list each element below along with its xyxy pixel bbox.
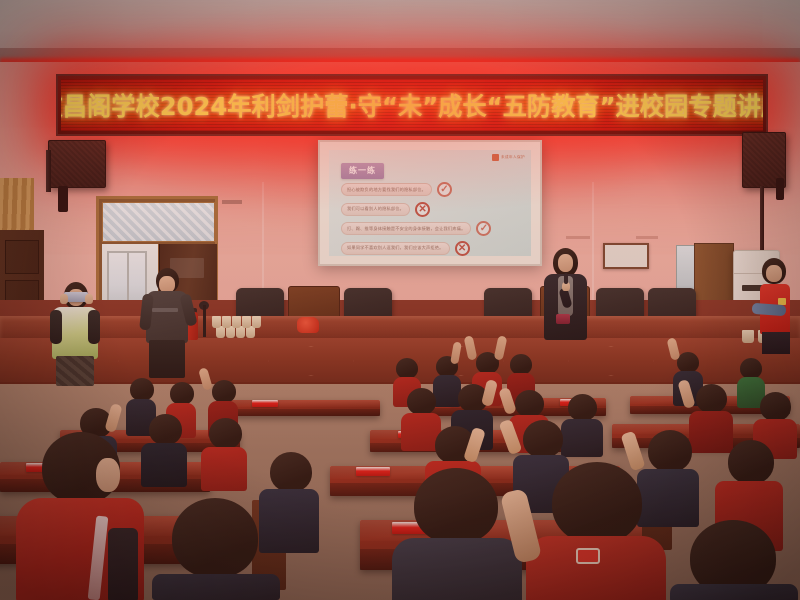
student-hair bbox=[172, 498, 258, 578]
cross-icon: ✕ bbox=[415, 202, 430, 217]
speaker-pole-left bbox=[46, 150, 51, 192]
student-top bbox=[670, 584, 798, 600]
student-hair bbox=[414, 468, 498, 544]
student bbox=[200, 418, 248, 490]
staff-trousers bbox=[149, 340, 185, 378]
stage-table-top bbox=[0, 316, 800, 340]
speaker-pole-right bbox=[760, 186, 764, 256]
check-icon: ✓ bbox=[437, 182, 452, 197]
slide-statement-text: 如果同学不喜欢别人逗我们，我们应该大声拒绝。 bbox=[341, 242, 450, 255]
jacket-sleeve bbox=[108, 528, 138, 600]
led-banner-screen: 文昌阁学校2024年利剑护蕾·守“未”成长“五防教育”进校园专题讲座 bbox=[61, 79, 763, 131]
volunteer-trousers bbox=[762, 332, 790, 354]
adult-arm-left bbox=[50, 310, 62, 344]
ceiling bbox=[0, 0, 800, 50]
paper-cup bbox=[252, 316, 261, 328]
check-icon: ✓ bbox=[476, 221, 491, 236]
student-foreground bbox=[384, 468, 526, 600]
adult-skirt bbox=[56, 356, 94, 386]
lecture-hall-photo: 文昌阁学校2024年利剑护蕾·守“未”成长“五防教育”进校园专题讲座 未成年人保… bbox=[0, 0, 800, 600]
student-foreground bbox=[150, 498, 282, 600]
slide-logo-text: 未成年人保护 bbox=[501, 155, 525, 160]
uniform-logo bbox=[576, 548, 600, 564]
adult-filming bbox=[46, 282, 104, 388]
volunteer bbox=[752, 258, 798, 354]
student-foreground bbox=[666, 520, 800, 600]
handheld-microphone bbox=[564, 273, 568, 284]
slide-title: 练一练 bbox=[341, 163, 384, 179]
adult-arm-right bbox=[88, 310, 100, 344]
student-red-top bbox=[526, 536, 666, 600]
adult-staff bbox=[138, 268, 194, 378]
slide-logo-mark bbox=[492, 154, 499, 161]
wall-speaker-left bbox=[48, 140, 106, 188]
presenter bbox=[534, 248, 596, 340]
red-bag bbox=[297, 317, 319, 333]
presenter-badge bbox=[556, 314, 570, 324]
volunteer-face bbox=[766, 265, 782, 282]
slide-row: 我们可以看别人的隐私部位。 ✕ bbox=[341, 202, 523, 217]
cross-icon: ✕ bbox=[455, 241, 470, 256]
slide-statement-list: 担心被欺负的地方要找我们的隐私部位。 ✓ 我们可以看别人的隐私部位。 ✕ 打、踢… bbox=[341, 182, 523, 256]
student-top bbox=[392, 538, 522, 600]
led-banner-text: 文昌阁学校2024年利剑护蕾·守“未”成长“五防教育”进校园专题讲座 bbox=[61, 87, 763, 123]
student-foreground bbox=[520, 462, 670, 600]
presenter-face bbox=[558, 254, 573, 272]
transom-window bbox=[102, 202, 215, 242]
slide-statement-text: 打、踢、推等身体接触是不安全的身体接触，会让我们疼痛。 bbox=[341, 222, 471, 235]
student-top bbox=[152, 574, 280, 600]
adult-hand-left bbox=[60, 294, 68, 304]
desk-nametag bbox=[252, 400, 278, 407]
projection-screen: 未成年人保护 练一练 担心被欺负的地方要找我们的隐私部位。 ✓ 我们可以看别人的… bbox=[318, 140, 542, 266]
speaker-bracket-left bbox=[58, 186, 68, 212]
slide-row: 打、踢、推等身体接触是不安全的身体接触，会让我们疼痛。 ✓ bbox=[341, 221, 523, 236]
tshirt-print bbox=[152, 308, 178, 312]
paper-cup bbox=[242, 316, 251, 328]
microphone-stand bbox=[203, 305, 206, 337]
projection-slide: 未成年人保护 练一练 担心被欺负的地方要找我们的隐私部位。 ✓ 我们可以看别人的… bbox=[329, 150, 531, 256]
paper-cup bbox=[212, 316, 221, 328]
student-foreground bbox=[16, 432, 146, 600]
volunteer-arm bbox=[752, 303, 787, 316]
student bbox=[140, 414, 188, 486]
slide-row: 如果同学不喜欢别人逗我们，我们应该大声拒绝。 ✕ bbox=[341, 241, 523, 256]
paper-cup bbox=[232, 316, 241, 328]
slide-logo: 未成年人保护 bbox=[492, 154, 525, 161]
slide-row: 担心被欺负的地方要找我们的隐私部位。 ✓ bbox=[341, 182, 523, 197]
slide-statement-text: 担心被欺负的地方要找我们的隐私部位。 bbox=[341, 183, 432, 196]
paper-cup bbox=[222, 316, 231, 328]
framed-picture bbox=[603, 243, 649, 269]
adult-hand-right bbox=[85, 294, 93, 304]
student-face bbox=[96, 458, 120, 492]
slide-statement-text: 我们可以看别人的隐私部位。 bbox=[341, 203, 410, 216]
led-banner: 文昌阁学校2024年利剑护蕾·守“未”成长“五防教育”进校园专题讲座 bbox=[56, 74, 768, 136]
speaker-bracket-right bbox=[776, 178, 784, 200]
student-hair bbox=[552, 462, 642, 544]
